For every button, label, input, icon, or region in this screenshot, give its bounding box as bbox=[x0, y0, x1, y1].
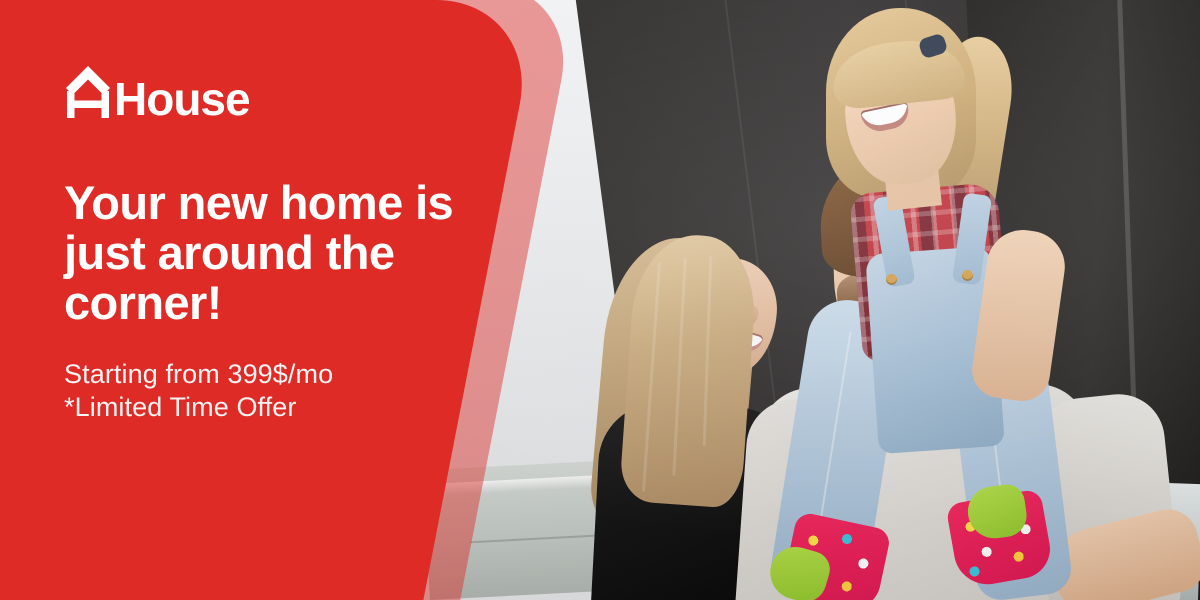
brand-logo[interactable]: House bbox=[64, 58, 480, 120]
banner-content: House Your new home is just around the c… bbox=[0, 0, 480, 600]
overall-button bbox=[962, 270, 973, 281]
price-text: Starting from 399$/mo bbox=[64, 358, 480, 391]
house-roof-icon bbox=[64, 64, 112, 120]
overall-button bbox=[886, 274, 897, 285]
brand-name: House bbox=[114, 76, 250, 122]
promo-banner: House Your new home is just around the c… bbox=[0, 0, 1200, 600]
page-title: Your new home is just around the corner! bbox=[64, 178, 464, 328]
offer-note: *Limited Time Offer bbox=[64, 391, 480, 424]
